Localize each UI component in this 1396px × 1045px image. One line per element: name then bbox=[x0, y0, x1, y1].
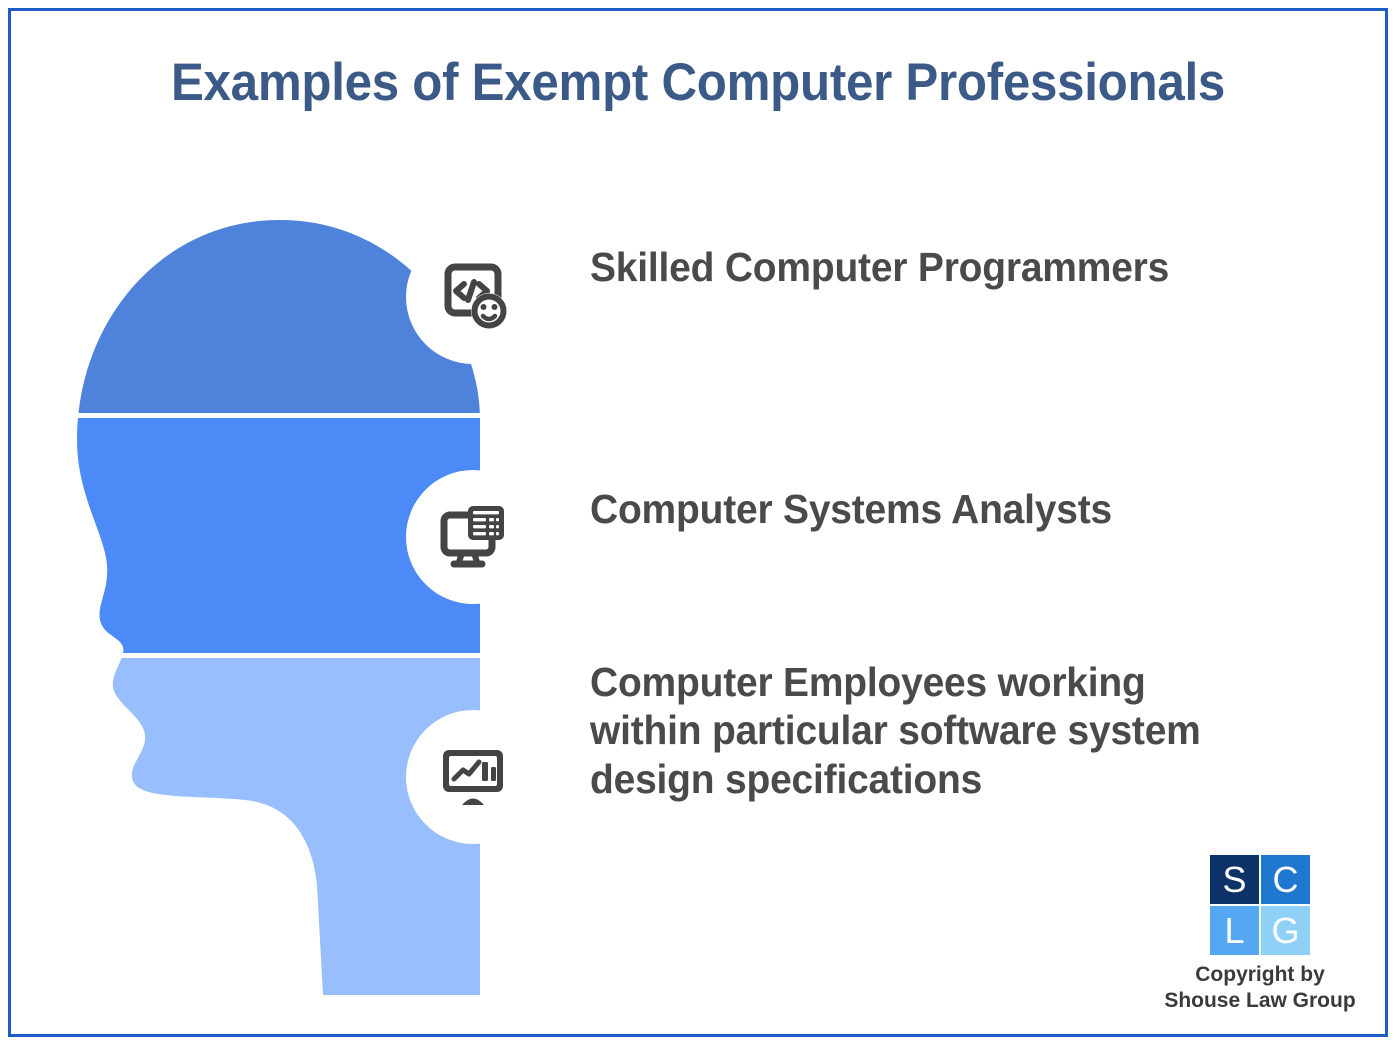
item-label-3: Computer Employees working within partic… bbox=[590, 658, 1341, 803]
item-label-3-line-1: Computer Employees working bbox=[590, 658, 1341, 706]
copyright-caption: Copyright by Shouse Law Group bbox=[1150, 962, 1370, 1013]
item-icon-1 bbox=[406, 230, 540, 364]
item-label-2: Computer Systems Analysts bbox=[590, 485, 1112, 533]
logo-block: S C L G Copyright by Shouse Law Group bbox=[1150, 855, 1370, 1013]
logo-cell-s: S bbox=[1210, 855, 1259, 904]
copyright-line-1: Copyright by bbox=[1150, 962, 1370, 988]
shouse-law-group-logo: S C L G bbox=[1210, 855, 1310, 955]
item-label-3-line-3: design specifications bbox=[590, 755, 1341, 803]
item-label-1: Skilled Computer Programmers bbox=[590, 243, 1169, 291]
code-window-smiley-icon bbox=[434, 258, 512, 336]
logo-cell-g: G bbox=[1261, 906, 1310, 955]
item-icon-2 bbox=[406, 470, 540, 604]
page-title: Examples of Exempt Computer Professional… bbox=[49, 52, 1347, 113]
monitor-chart-icon bbox=[435, 742, 511, 812]
infographic-canvas: Examples of Exempt Computer Professional… bbox=[0, 0, 1396, 1045]
item-icon-3 bbox=[406, 710, 540, 844]
item-label-3-line-2: within particular software system bbox=[590, 706, 1341, 754]
monitor-data-table-icon bbox=[434, 498, 512, 576]
logo-cell-c: C bbox=[1261, 855, 1310, 904]
copyright-line-2: Shouse Law Group bbox=[1150, 988, 1370, 1014]
logo-cell-l: L bbox=[1210, 906, 1259, 955]
